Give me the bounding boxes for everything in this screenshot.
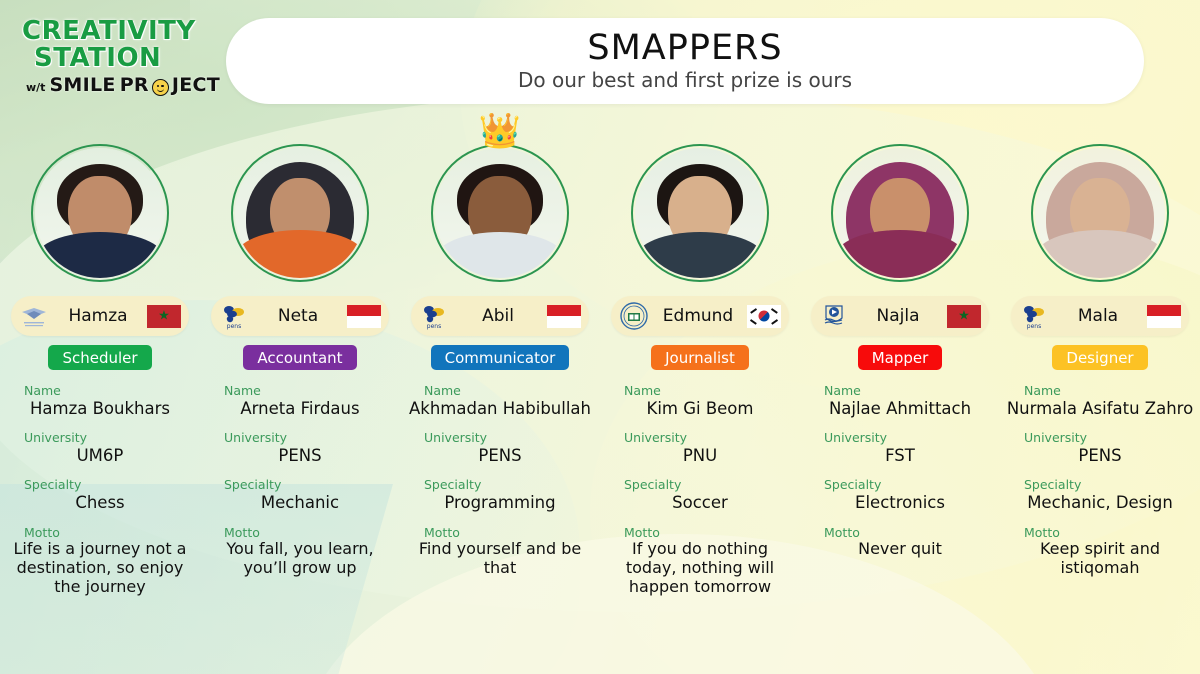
label-motto: Motto — [1006, 526, 1194, 540]
avatar-ring — [631, 144, 769, 282]
flag-indonesia — [547, 305, 581, 328]
field-university: UniversityPNU — [606, 431, 794, 465]
flag-indonesia — [1147, 305, 1181, 328]
label-specialty: Specialty — [206, 478, 394, 492]
members-grid: Hamza★SchedulerNameHamza BoukharsUnivers… — [0, 128, 1200, 668]
field-specialty: SpecialtyMechanic, Design — [1006, 478, 1194, 512]
value-specialty: Soccer — [606, 493, 794, 512]
avatar — [231, 144, 369, 282]
member-card: Hamza★SchedulerNameHamza BoukharsUnivers… — [0, 128, 200, 668]
svg-text:pens: pens — [427, 323, 441, 330]
value-specialty: Electronics — [806, 493, 994, 512]
pens-logo: pens — [419, 301, 449, 331]
brand-with-text: w/t — [26, 81, 45, 96]
value-name: Hamza Boukhars — [6, 399, 194, 418]
value-specialty: Chess — [6, 493, 194, 512]
member-name-pill[interactable]: Najla★ — [811, 296, 989, 336]
value-university: PENS — [206, 446, 394, 465]
smiley-face-icon — [152, 79, 169, 96]
flag-south-korea — [747, 305, 781, 328]
member-fields: NameNajlae AhmittachUniversityFSTSpecial… — [800, 384, 1000, 572]
member-card: pensNetaAccountantNameArneta FirdausUniv… — [200, 128, 400, 668]
label-specialty: Specialty — [1006, 478, 1194, 492]
value-motto: If you do nothing today, nothing will ha… — [606, 540, 794, 597]
label-motto: Motto — [806, 526, 994, 540]
label-university: University — [806, 431, 994, 445]
um6p-logo — [19, 301, 49, 331]
field-name: NameKim Gi Beom — [606, 384, 794, 418]
value-university: PNU — [606, 446, 794, 465]
flag-indonesia — [347, 305, 381, 328]
field-name: NameHamza Boukhars — [6, 384, 194, 418]
avatar — [31, 144, 169, 282]
brand-logo: CREATIVITY STATION w/t SMILE PR JECT — [22, 18, 252, 96]
avatar — [431, 144, 569, 282]
member-card: pensMalaDesignerNameNurmala Asifatu Zahr… — [1000, 128, 1200, 668]
field-motto: MottoKeep spirit and istiqomah — [1006, 526, 1194, 579]
label-name: Name — [6, 384, 194, 398]
member-nickname: Neta — [253, 306, 343, 326]
field-name: NameNajlae Ahmittach — [806, 384, 994, 418]
label-university: University — [6, 431, 194, 445]
avatar — [831, 144, 969, 282]
role-badge[interactable]: Designer — [1052, 345, 1147, 370]
page-title: SMAPPERS — [587, 30, 782, 67]
page-subtitle: Do our best and first prize is ours — [518, 68, 852, 92]
label-university: University — [406, 431, 594, 445]
avatar-ring — [31, 144, 169, 282]
value-university: FST — [806, 446, 994, 465]
role-badge[interactable]: Accountant — [243, 345, 356, 370]
value-name: Akhmadan Habibullah — [406, 399, 594, 418]
svg-text:pens: pens — [227, 323, 241, 330]
field-name: NameAkhmadan Habibullah — [406, 384, 594, 418]
member-name-pill[interactable]: pensNeta — [211, 296, 389, 336]
label-motto: Motto — [6, 526, 194, 540]
field-university: UniversityFST — [806, 431, 994, 465]
label-specialty: Specialty — [806, 478, 994, 492]
avatar — [1031, 144, 1169, 282]
field-motto: MottoFind yourself and be that — [406, 526, 594, 579]
svg-text:pens: pens — [1027, 323, 1041, 330]
field-name: NameArneta Firdaus — [206, 384, 394, 418]
field-specialty: SpecialtyMechanic — [206, 478, 394, 512]
label-specialty: Specialty — [606, 478, 794, 492]
value-university: PENS — [406, 446, 594, 465]
header: CREATIVITY STATION w/t SMILE PR JECT SMA… — [0, 0, 1200, 120]
value-motto: You fall, you learn, you’ll grow up — [206, 540, 394, 578]
field-specialty: SpecialtySoccer — [606, 478, 794, 512]
label-name: Name — [406, 384, 594, 398]
member-fields: NameNurmala Asifatu ZahroUniversityPENSS… — [1000, 384, 1200, 591]
member-fields: NameHamza BoukharsUniversityUM6PSpecialt… — [0, 384, 200, 610]
value-specialty: Mechanic, Design — [1006, 493, 1194, 512]
brand-project-pre: PR — [120, 74, 149, 96]
value-name: Nurmala Asifatu Zahro — [1006, 399, 1194, 418]
field-name: NameNurmala Asifatu Zahro — [1006, 384, 1194, 418]
value-specialty: Programming — [406, 493, 594, 512]
brand-line-1: CREATIVITY — [22, 18, 252, 45]
field-motto: MottoNever quit — [806, 526, 994, 560]
fst-logo — [819, 301, 849, 331]
label-motto: Motto — [206, 526, 394, 540]
value-name: Arneta Firdaus — [206, 399, 394, 418]
value-motto: Life is a journey not a destination, so … — [6, 540, 194, 597]
member-fields: NameAkhmadan HabibullahUniversityPENSSpe… — [400, 384, 600, 591]
value-name: Najlae Ahmittach — [806, 399, 994, 418]
member-nickname: Edmund — [653, 306, 743, 326]
pnu-logo — [619, 301, 649, 331]
field-specialty: SpecialtyElectronics — [806, 478, 994, 512]
value-name: Kim Gi Beom — [606, 399, 794, 418]
label-name: Name — [206, 384, 394, 398]
brand-smile-text: SMILE — [49, 74, 115, 96]
role-badge[interactable]: Communicator — [431, 345, 570, 370]
label-specialty: Specialty — [6, 478, 194, 492]
role-badge[interactable]: Journalist — [651, 345, 749, 370]
member-card: EdmundJournalistNameKim Gi BeomUniversit… — [600, 128, 800, 668]
field-motto: MottoIf you do nothing today, nothing wi… — [606, 526, 794, 597]
value-university: PENS — [1006, 446, 1194, 465]
label-motto: Motto — [406, 526, 594, 540]
member-card: Najla★MapperNameNajlae AhmittachUniversi… — [800, 128, 1000, 668]
flag-morocco: ★ — [147, 305, 181, 328]
label-name: Name — [806, 384, 994, 398]
member-nickname: Mala — [1053, 306, 1143, 326]
role-badge[interactable]: Mapper — [858, 345, 943, 370]
avatar-ring — [831, 144, 969, 282]
value-specialty: Mechanic — [206, 493, 394, 512]
member-nickname: Najla — [853, 306, 943, 326]
field-motto: MottoYou fall, you learn, you’ll grow up — [206, 526, 394, 579]
pens-logo: pens — [219, 301, 249, 331]
label-university: University — [1006, 431, 1194, 445]
field-university: UniversityPENS — [406, 431, 594, 465]
member-nickname: Hamza — [53, 306, 143, 326]
label-motto: Motto — [606, 526, 794, 540]
member-name-pill[interactable]: Hamza★ — [11, 296, 189, 336]
member-name-pill[interactable]: pensAbil — [411, 296, 589, 336]
field-specialty: SpecialtyChess — [6, 478, 194, 512]
avatar-ring — [231, 144, 369, 282]
field-university: UniversityPENS — [1006, 431, 1194, 465]
member-fields: NameArneta FirdausUniversityPENSSpecialt… — [200, 384, 400, 591]
label-specialty: Specialty — [406, 478, 594, 492]
flag-morocco: ★ — [947, 305, 981, 328]
member-card: 👑pensAbilCommunicatorNameAkhmadan Habibu… — [400, 128, 600, 668]
member-nickname: Abil — [453, 306, 543, 326]
brand-project-post: JECT — [172, 74, 220, 96]
member-fields: NameKim Gi BeomUniversityPNUSpecialtySoc… — [600, 384, 800, 610]
value-motto: Find yourself and be that — [406, 540, 594, 578]
pens-logo: pens — [1019, 301, 1049, 331]
label-university: University — [206, 431, 394, 445]
member-name-pill[interactable]: Edmund — [611, 296, 789, 336]
brand-line-2: STATION — [34, 45, 252, 72]
value-university: UM6P — [6, 446, 194, 465]
field-university: UniversityPENS — [206, 431, 394, 465]
label-university: University — [606, 431, 794, 445]
value-motto: Keep spirit and istiqomah — [1006, 540, 1194, 578]
title-card: SMAPPERS Do our best and first prize is … — [226, 18, 1144, 104]
field-specialty: SpecialtyProgramming — [406, 478, 594, 512]
avatar-ring — [1031, 144, 1169, 282]
value-motto: Never quit — [806, 540, 994, 559]
brand-subline: w/t SMILE PR JECT — [26, 74, 252, 96]
field-university: UniversityUM6P — [6, 431, 194, 465]
label-name: Name — [1006, 384, 1194, 398]
member-name-pill[interactable]: pensMala — [1011, 296, 1189, 336]
avatar-ring — [431, 144, 569, 282]
role-badge[interactable]: Scheduler — [48, 345, 151, 370]
field-motto: MottoLife is a journey not a destination… — [6, 526, 194, 597]
avatar — [631, 144, 769, 282]
label-name: Name — [606, 384, 794, 398]
